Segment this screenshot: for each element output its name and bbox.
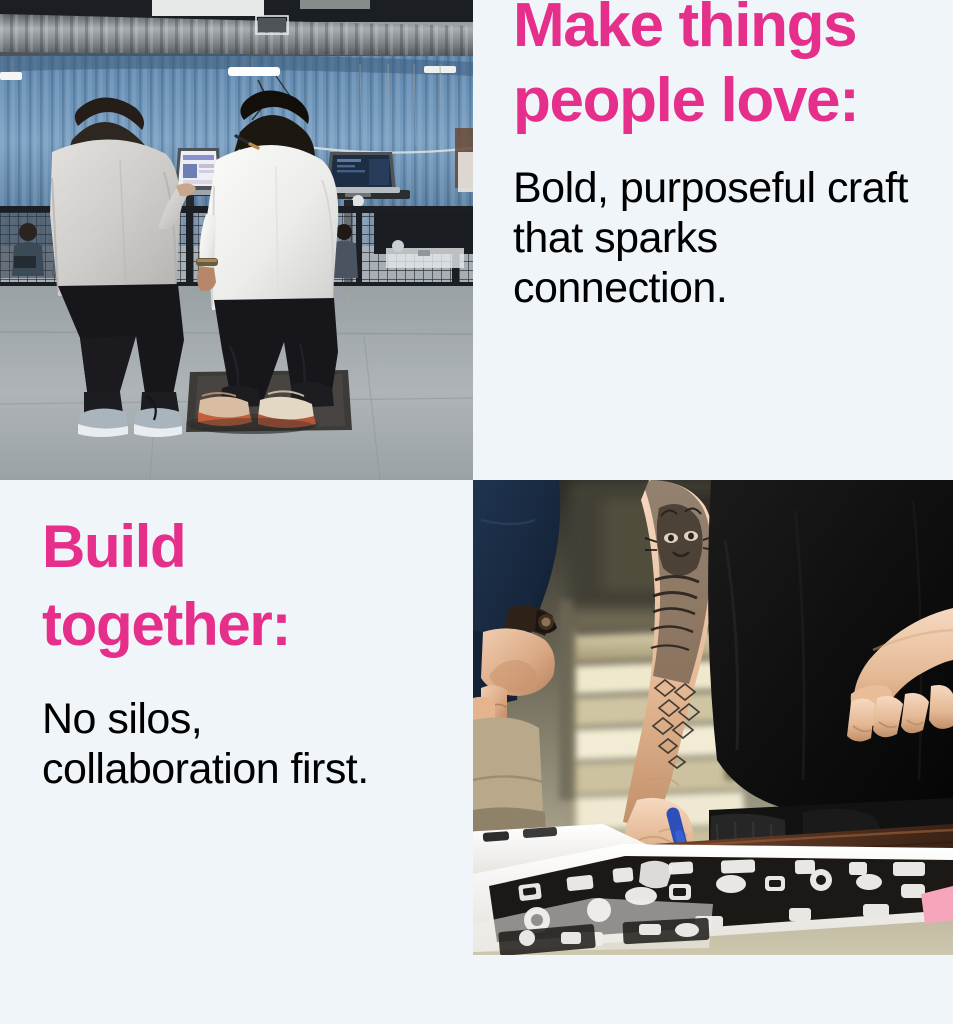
values-card-make-things: Make things people love: Bold, purposefu… [473, 0, 953, 480]
make-things-headline: Make things people love: [513, 0, 913, 138]
office-standing-desk-photo [0, 0, 473, 480]
workshop-collaboration-photo [473, 480, 953, 955]
make-things-body: Bold, purposeful craft that sparks conne… [513, 163, 913, 313]
values-card-build-together: Build together: No silos, collaboration … [0, 480, 473, 1024]
build-together-body: No silos, collaboration first. [42, 694, 433, 794]
build-together-headline: Build together: [42, 508, 433, 664]
values-grid: Make things people love: Bold, purposefu… [0, 0, 953, 1024]
